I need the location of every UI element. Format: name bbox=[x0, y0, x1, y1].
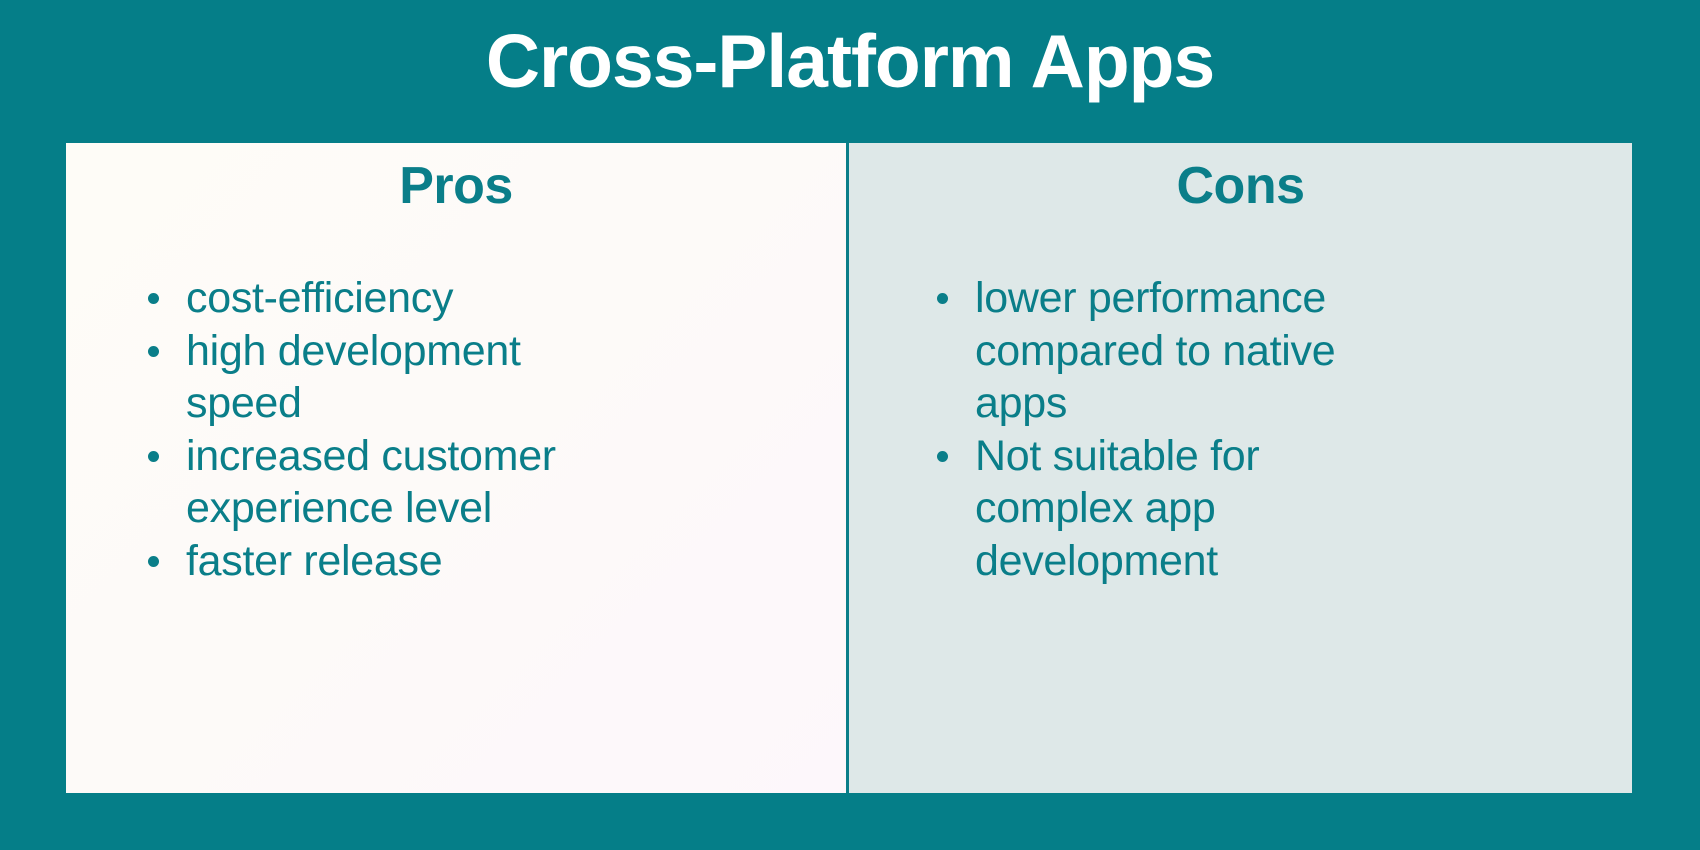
bullet-dot-icon bbox=[148, 451, 159, 462]
list-item: lower performance compared to native app… bbox=[933, 272, 1388, 429]
cons-column-header: Cons bbox=[849, 155, 1632, 217]
list-item-label: lower performance compared to native app… bbox=[975, 274, 1335, 427]
bullet-dot-icon bbox=[148, 293, 159, 304]
list-item-label: increased customer experience level bbox=[186, 432, 556, 532]
bullet-dot-icon bbox=[937, 451, 948, 462]
slide-root: Cross-Platform Apps Pros cost-efficiency… bbox=[0, 0, 1700, 850]
bullet-dot-icon bbox=[148, 346, 159, 357]
list-item: faster release bbox=[144, 535, 614, 587]
list-item: increased customer experience level bbox=[144, 430, 614, 535]
cons-column: Cons lower performance compared to nativ… bbox=[849, 143, 1632, 793]
pros-list: cost-efficiency high development speed i… bbox=[144, 272, 614, 587]
list-item-label: cost-efficiency bbox=[186, 274, 453, 322]
pros-column: Pros cost-efficiency high development sp… bbox=[66, 143, 849, 793]
bullet-dot-icon bbox=[148, 556, 159, 567]
pros-cons-table: Pros cost-efficiency high development sp… bbox=[66, 143, 1632, 793]
cons-list: lower performance compared to native app… bbox=[933, 272, 1388, 587]
list-item-label: Not suitable for complex app development bbox=[975, 432, 1259, 585]
list-item-label: faster release bbox=[186, 537, 442, 585]
list-item-label: high development speed bbox=[186, 327, 521, 427]
list-item: cost-efficiency bbox=[144, 272, 614, 324]
list-item: Not suitable for complex app development bbox=[933, 430, 1388, 587]
list-item: high development speed bbox=[144, 325, 614, 430]
page-title: Cross-Platform Apps bbox=[0, 20, 1700, 103]
pros-column-header: Pros bbox=[66, 155, 846, 217]
bullet-dot-icon bbox=[937, 293, 948, 304]
